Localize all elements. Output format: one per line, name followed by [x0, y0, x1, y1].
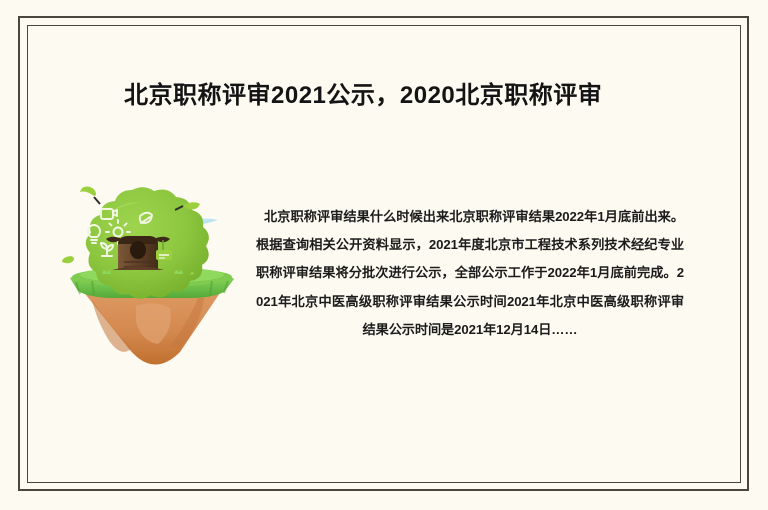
canopy-sprig-left — [62, 256, 74, 263]
canopy-sprig-topleft — [80, 187, 100, 204]
article-page: 北京职称评审2021公示，2020北京职称评审 — [0, 0, 768, 510]
soil-wedge — [82, 290, 222, 365]
eco-island-illustration — [62, 182, 242, 377]
article-body: 北京职称评审结果什么时候出来北京职称评审结果2022年1月底前出来。根据查询相关… — [256, 203, 684, 344]
page-title: 北京职称评审2021公示，2020北京职称评审 — [124, 80, 654, 112]
